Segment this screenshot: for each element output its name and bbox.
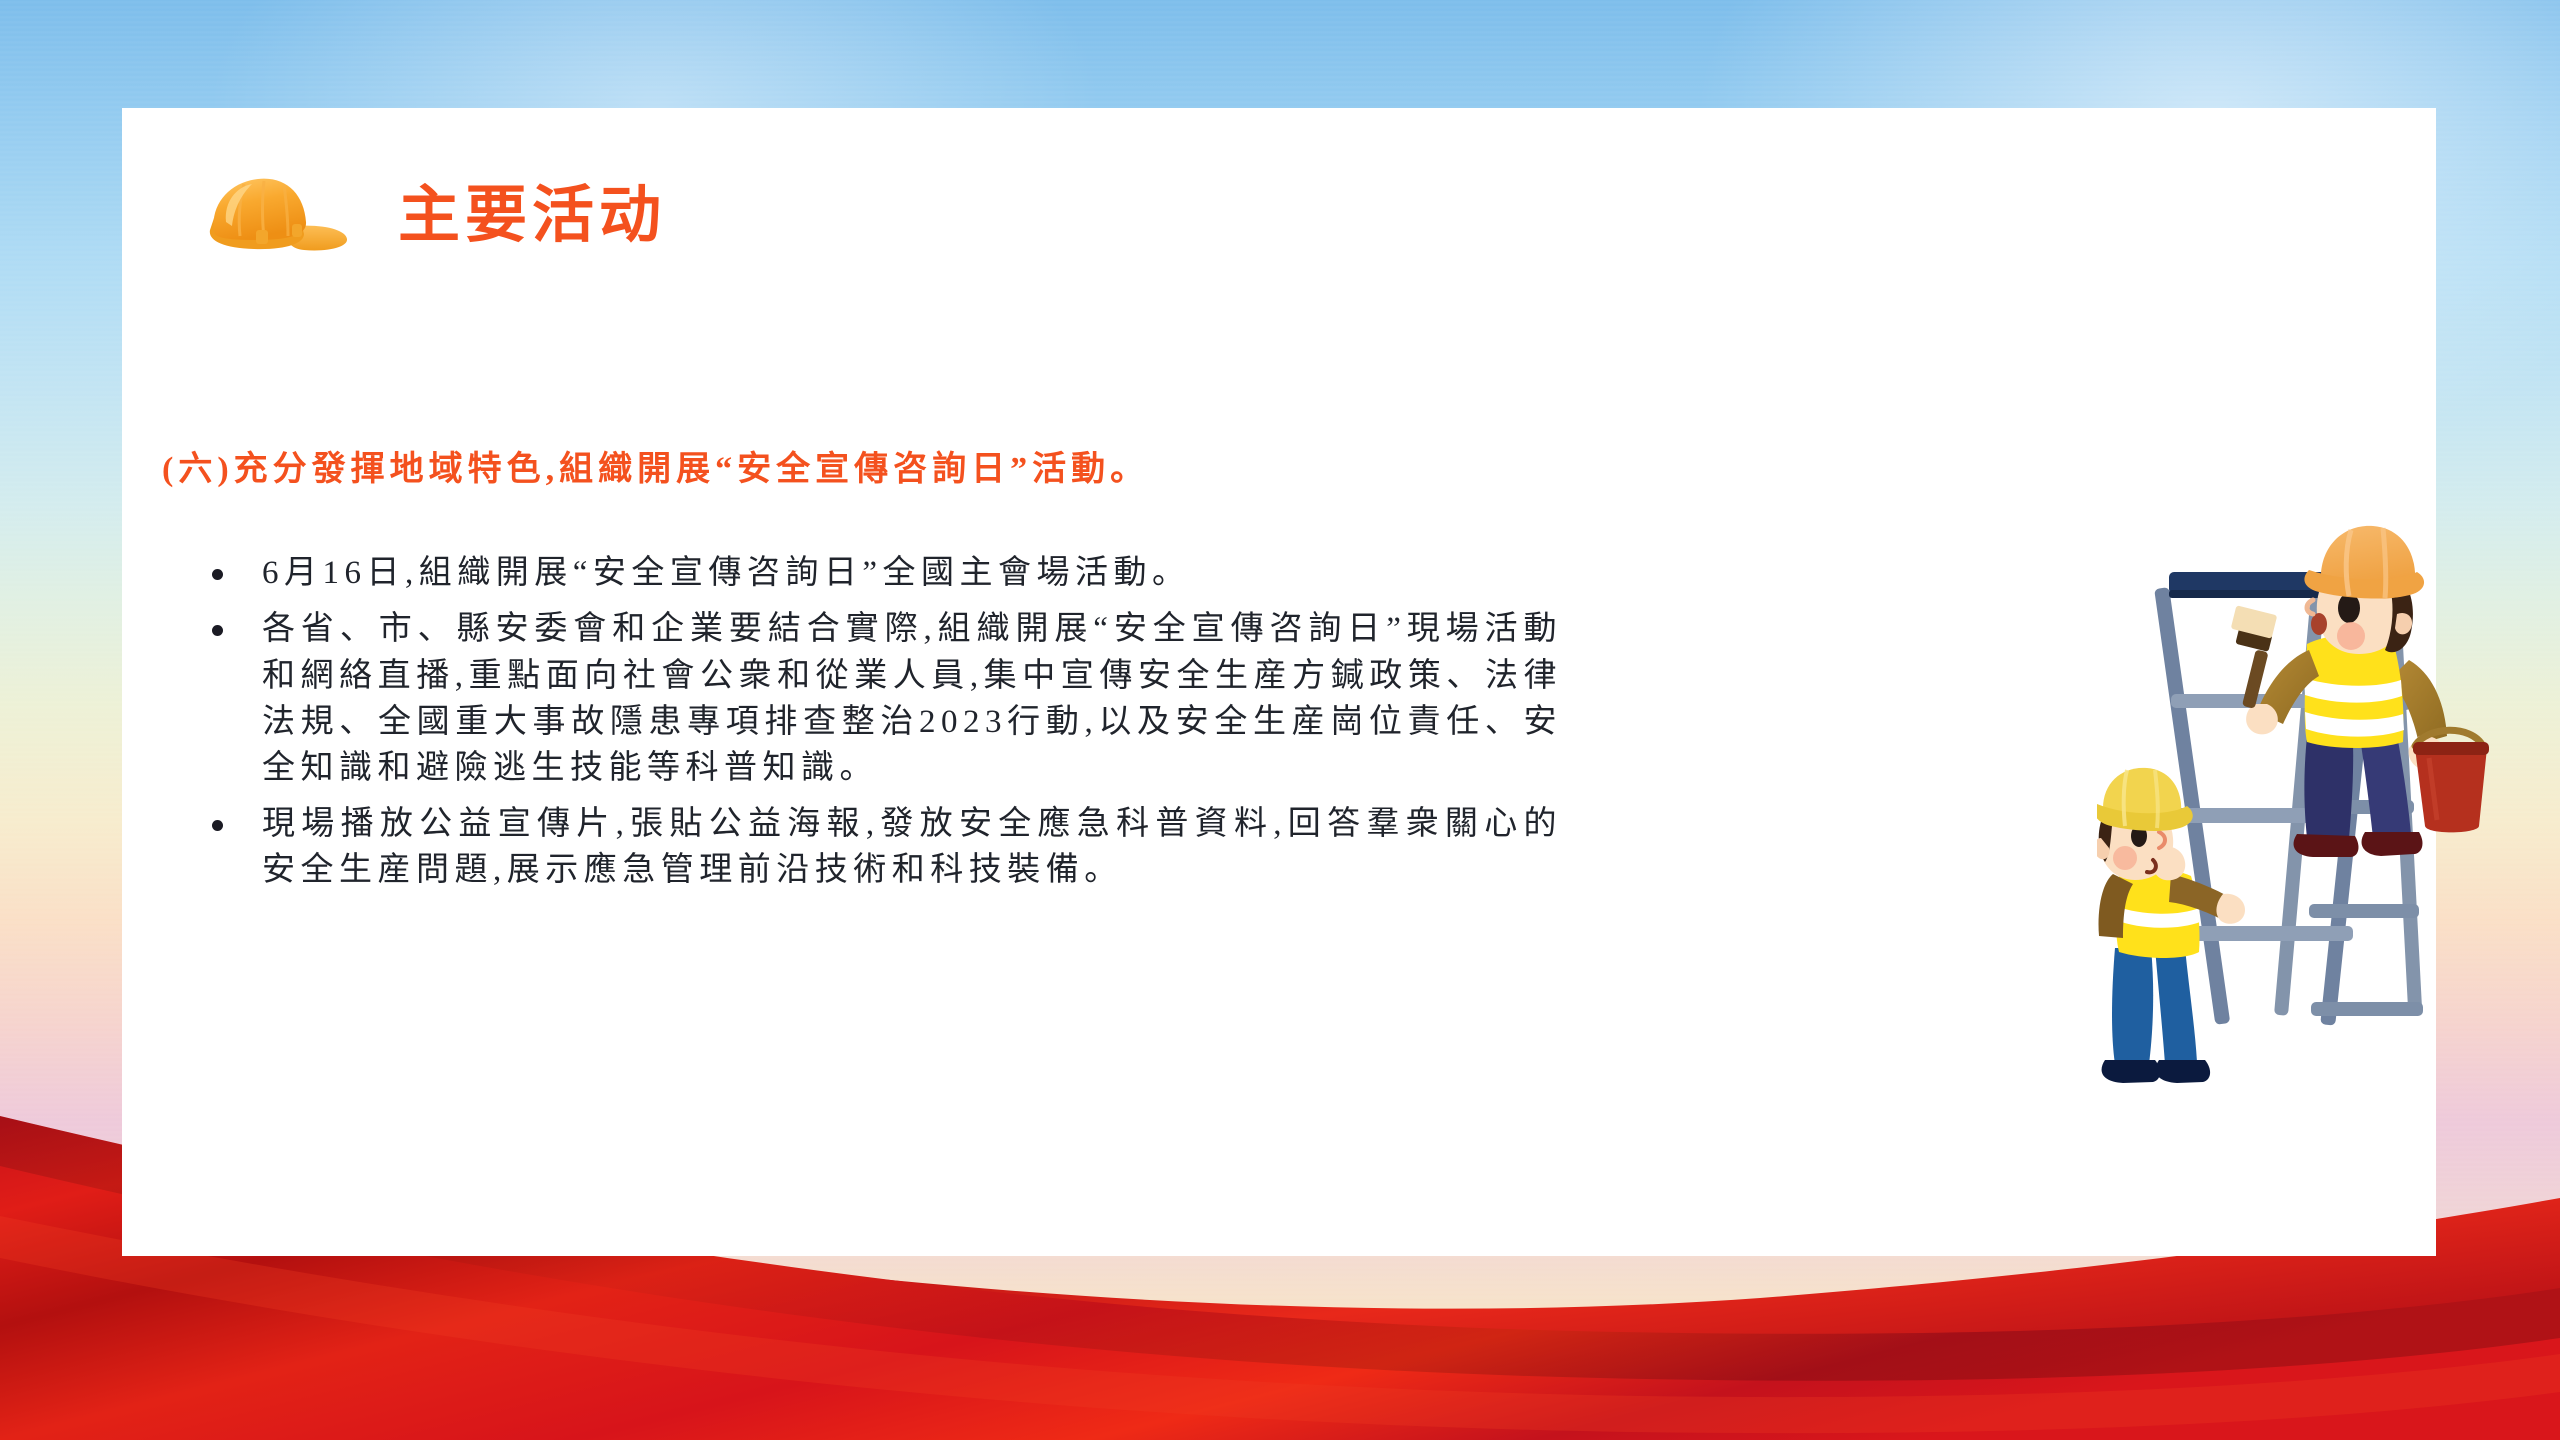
bullet-marker-icon xyxy=(212,625,223,636)
list-item: 6月16日,組織開展“安全宣傳咨詢日”全國主會場活動。 xyxy=(162,550,1282,596)
safety-helmet-icon xyxy=(200,170,350,262)
bullet-marker-icon xyxy=(212,820,223,831)
slide-root: 主要活动 (六)充分發揮地域特色,組織開展“安全宣傳咨詢日”活動。 6月16日,… xyxy=(0,0,2560,1440)
slide-content: (六)充分發揮地域特色,組織開展“安全宣傳咨詢日”活動。 6月16日,組織開展“… xyxy=(162,448,1862,904)
list-item-text: 6月16日,組織開展“安全宣傳咨詢日”全國主會場活動。 xyxy=(262,555,1191,591)
list-item: 現場播放公益宣傳片,張貼公益海報,發放安全應急科普資料,回答羣衆關心的安全生産問… xyxy=(162,801,1562,893)
section-heading: (六)充分發揮地域特色,組織開展“安全宣傳咨詢日”活動。 xyxy=(162,448,1862,492)
bullet-marker-icon xyxy=(212,569,223,580)
list-item-text: 現場播放公益宣傳片,張貼公益海報,發放安全應急科普資料,回答羣衆關心的安全生産問… xyxy=(262,806,1562,888)
content-card: 主要活动 (六)充分發揮地域特色,組織開展“安全宣傳咨詢日”活動。 6月16日,… xyxy=(122,108,2436,1256)
bullet-list: 6月16日,組織開展“安全宣傳咨詢日”全國主會場活動。 各省、市、縣安委會和企業… xyxy=(162,550,1862,893)
page-title: 主要活动 xyxy=(398,185,666,247)
paint-bucket xyxy=(2413,730,2489,832)
list-item-text: 各省、市、縣安委會和企業要結合實際,組織開展“安全宣傳咨詢日”現場活動和網絡直播… xyxy=(262,611,1562,786)
workers-on-ladder-illustration xyxy=(2097,508,2527,1108)
list-item: 各省、市、縣安委會和企業要結合實際,組織開展“安全宣傳咨詢日”現場活動和網絡直播… xyxy=(162,606,1562,791)
slide-header: 主要活动 xyxy=(200,170,666,262)
